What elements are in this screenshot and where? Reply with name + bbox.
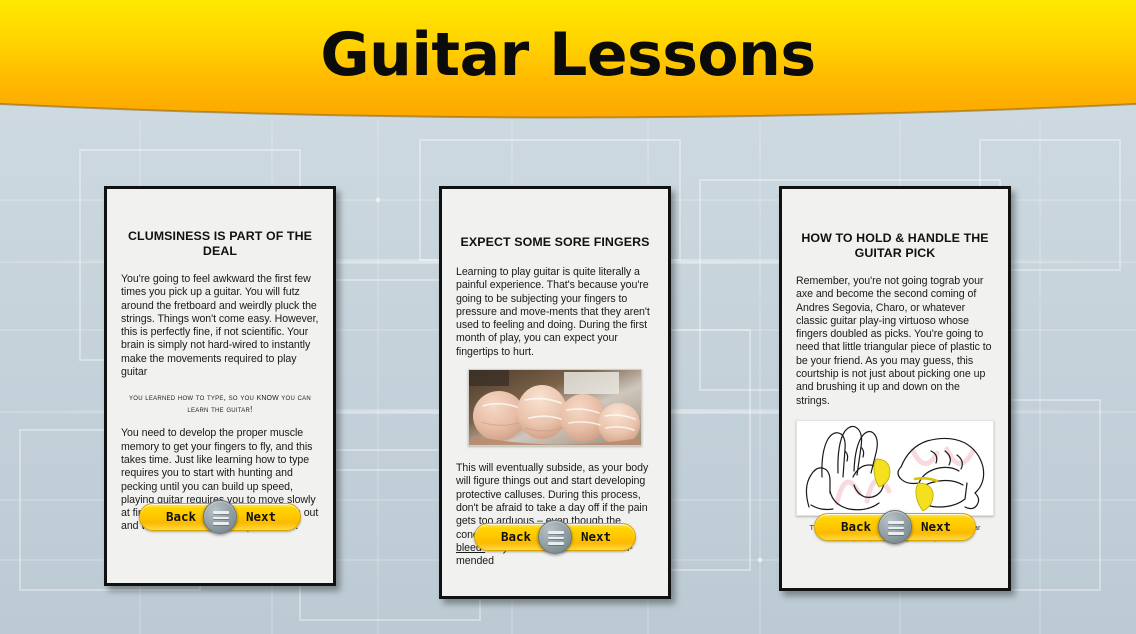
card-pullquote: You learned how to type, so you KNOW you… — [127, 392, 313, 416]
card-title: EXPECT SOME SORE FINGERS — [458, 235, 652, 250]
next-button[interactable]: Next — [233, 503, 289, 531]
hamburger-menu-icon[interactable] — [203, 500, 237, 534]
back-button[interactable]: Back — [153, 503, 209, 531]
card-nav: Back Next — [139, 503, 301, 531]
pullquote-text-start: You learned how to type, so you — [129, 393, 257, 402]
lesson-card-clumsiness[interactable]: CLUMSINESS IS PART OF THE DEAL You're go… — [104, 186, 336, 586]
header-banner: Guitar Lessons — [0, 0, 1136, 130]
hand-holding-pick-drawing — [796, 420, 994, 516]
next-button[interactable]: Next — [568, 523, 624, 551]
hamburger-menu-icon[interactable] — [878, 510, 912, 544]
next-button[interactable]: Next — [908, 513, 964, 541]
back-button[interactable]: Back — [828, 513, 884, 541]
back-button[interactable]: Back — [488, 523, 544, 551]
card-nav: Back Next — [474, 523, 636, 551]
page-background: Guitar Lessons CLUMSINESS IS PART OF THE… — [0, 0, 1136, 634]
pullquote-emphasis: KNOW — [257, 392, 279, 403]
hamburger-menu-icon[interactable] — [538, 520, 572, 554]
page-title: Guitar Lessons — [0, 20, 1136, 90]
card-paragraph-1: Learning to play guitar is quite literal… — [456, 266, 654, 359]
lesson-card-guitar-pick[interactable]: HOW TO HOLD & HANDLE THE GUITAR PICK Rem… — [779, 186, 1011, 591]
lesson-card-sore-fingers[interactable]: EXPECT SOME SORE FINGERS Learning to pla… — [439, 186, 671, 599]
card-paragraph-1: Remember, you're not going tograb your a… — [796, 275, 994, 408]
fingertips-callus-photo — [468, 369, 642, 446]
card-paragraph-1: You're going to feel awkward the first f… — [121, 273, 319, 379]
card-title: CLUMSINESS IS PART OF THE DEAL — [123, 229, 317, 259]
card-title: HOW TO HOLD & HANDLE THE GUITAR PICK — [798, 231, 992, 261]
card-nav: Back Next — [814, 513, 976, 541]
